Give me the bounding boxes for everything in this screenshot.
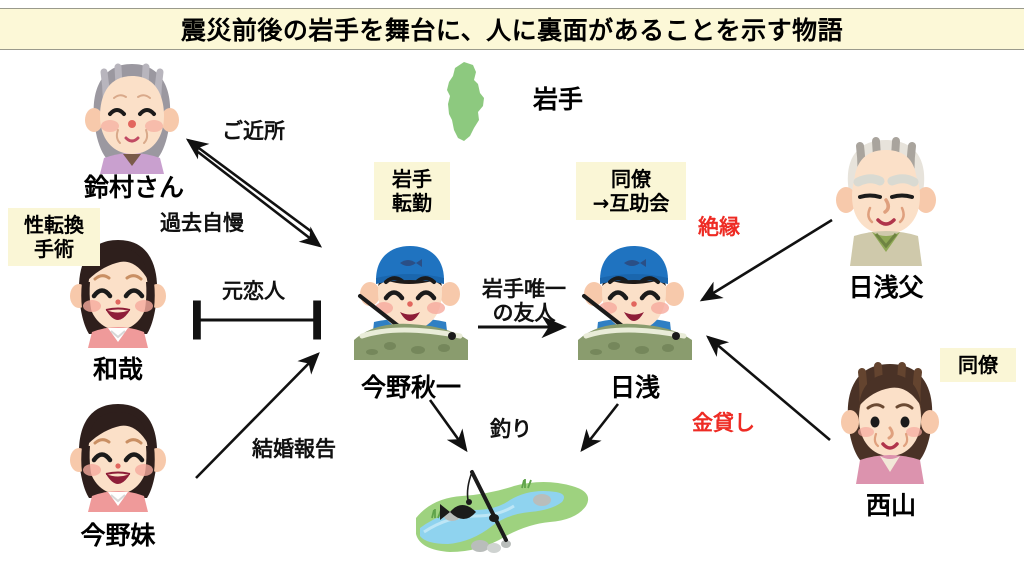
label-name-konno-shuichi: 今野秋一 <box>338 368 484 404</box>
arrow-tsuri-left <box>430 400 466 450</box>
label-relation-motokoibito: 元恋人 <box>222 280 285 304</box>
label-name-hiasa-chichi: 日浅父 <box>824 268 948 304</box>
tag-line-1: 同僚 <box>583 167 679 191</box>
tag-line-1: 岩手 <box>381 167 443 191</box>
tag-line-2: 転勤 <box>381 191 443 215</box>
label-relation-kanekashi: 金貸し <box>692 412 755 436</box>
label-relation-gokinjo: ご近所 <box>222 120 285 144</box>
label-relation-zetsuen: 絶縁 <box>698 216 740 240</box>
label-name-suzumura: 鈴村さん <box>54 168 214 204</box>
tag-line-2: →互助会 <box>583 191 679 215</box>
relation-line-1: 岩手唯一 <box>468 278 580 302</box>
tag-iwate-tenkin: 岩手 転勤 <box>374 162 450 220</box>
label-name-nishiyama: 西山 <box>836 486 946 522</box>
relation-line-2: の友人 <box>468 302 580 326</box>
tag-doryo-gojokai: 同僚 →互助会 <box>576 162 686 220</box>
tag-doryo: 同僚 <box>940 348 1016 382</box>
tag-line-1: 同僚 <box>947 353 1009 377</box>
label-iwate-region: 岩手 <box>508 80 608 116</box>
label-relation-kekkonhoukoku: 結婚報告 <box>252 438 336 462</box>
label-relation-yuiitsu-no-yuujin: 岩手唯一 の友人 <box>468 278 580 325</box>
slide-canvas: 震災前後の岩手を舞台に、人に裏面があることを示す物語 <box>0 0 1024 576</box>
tag-line-2: 手術 <box>15 237 93 261</box>
arrow-tsuri-right <box>582 404 618 450</box>
label-name-kazuya: 和哉 <box>58 350 178 386</box>
tag-seitenkan-shujutsu: 性転換 手術 <box>8 208 100 266</box>
label-relation-tsuri: 釣り <box>490 418 532 442</box>
label-name-konno-imouto: 今野妹 <box>48 516 188 552</box>
tag-line-1: 性転換 <box>15 213 93 237</box>
label-name-hiasa: 日浅 <box>588 368 682 404</box>
label-relation-kakojiman: 過去自慢 <box>160 212 244 236</box>
